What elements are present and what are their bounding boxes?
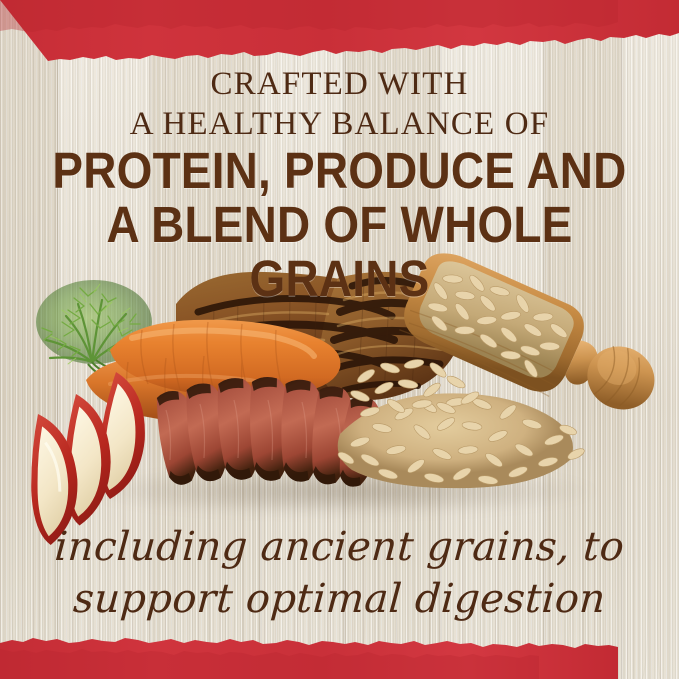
packaging-panel: CRAFTED WITH A HEALTHY BALANCE OF PROTEI… — [0, 0, 679, 679]
headline-line-4: A BLEND OF WHOLE GRAINS — [34, 198, 645, 306]
headline-line-1: CRAFTED WITH — [0, 64, 679, 104]
headline-line-2: A HEALTHY BALANCE OF — [0, 104, 679, 144]
bottom-red-band — [0, 609, 679, 679]
spilled-grains-icon — [340, 346, 510, 436]
headline-line-3: PROTEIN, PRODUCE AND — [34, 144, 645, 198]
headline-block: CRAFTED WITH A HEALTHY BALANCE OF PROTEI… — [0, 64, 679, 306]
script-line-1: including ancient grains, to — [0, 521, 679, 573]
top-red-band — [0, 0, 679, 60]
